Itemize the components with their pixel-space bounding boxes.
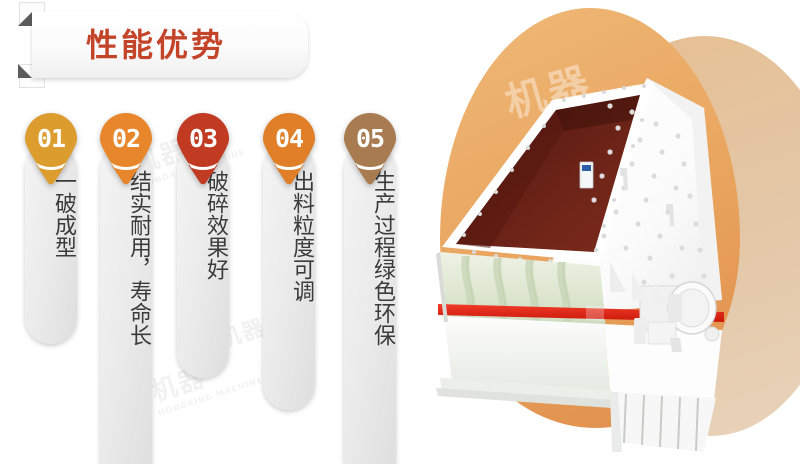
badge-inner: 03 [172, 108, 234, 170]
feature-label: 生产过程绿色环保 [344, 170, 396, 346]
feature-number: 03 [189, 126, 217, 151]
feature-pill: 结实耐用，寿命长 [100, 144, 152, 464]
feature-number-badge: 04 [258, 108, 320, 170]
feature-number-badge: 03 [172, 108, 234, 170]
ribbon-body: 性能优势 [32, 12, 308, 78]
product-illustration: 机器 [404, 0, 800, 464]
promo-banner-page: 机器 HONGXING MACHINE 机器 HONGXING MACHINE … [0, 0, 800, 464]
feature-number: 01 [37, 126, 65, 151]
feature-number: 02 [112, 126, 140, 151]
feature-pill: 生产过程绿色环保 [344, 144, 396, 464]
page-title: 性能优势 [86, 29, 226, 61]
badge-inner: 05 [339, 108, 401, 170]
section-title-ribbon: 性能优势 [18, 12, 308, 78]
badge-inner: 04 [258, 108, 320, 170]
feature-label: 结实耐用，寿命长 [100, 170, 152, 346]
feature-number-badge: 01 [20, 108, 82, 170]
ribbon-fold-top-icon [18, 12, 32, 26]
feature-number: 05 [356, 126, 384, 151]
feature-label: 破碎效果好 [177, 170, 229, 280]
badge-inner: 01 [20, 108, 82, 170]
impact-crusher-machine-icon [404, 0, 800, 464]
feature-label: 出料粒度可调 [263, 170, 315, 302]
feature-number-badge: 02 [95, 108, 157, 170]
feature-list: 一破成型01结实耐用，寿命长02破碎效果好03出料粒度可调04生产过程绿色环保0… [14, 108, 414, 458]
feature-number-badge: 05 [339, 108, 401, 170]
ribbon-fold-bottom-icon [18, 64, 32, 78]
feature-number: 04 [275, 126, 303, 151]
badge-inner: 02 [95, 108, 157, 170]
